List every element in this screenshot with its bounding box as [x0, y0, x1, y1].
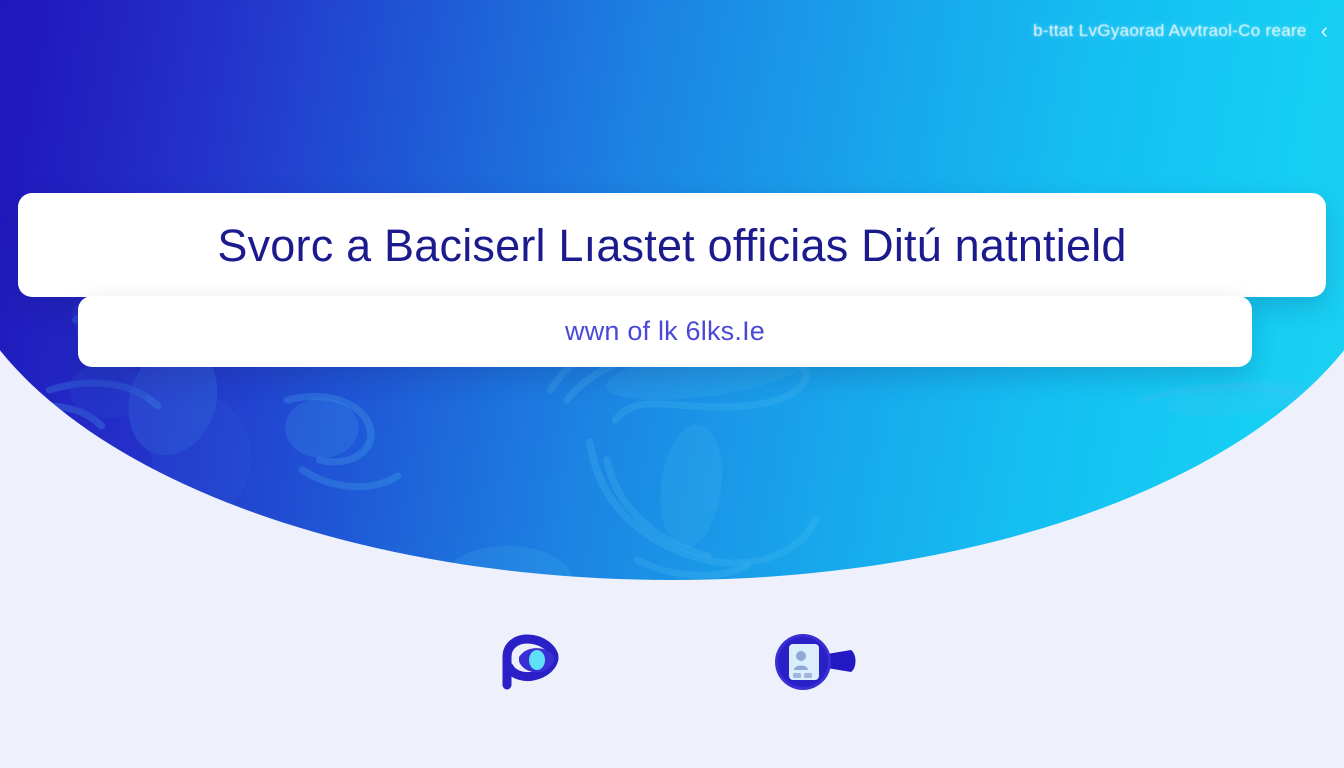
subtitle-card: wwn of lk 6lks.Ie [78, 296, 1252, 367]
feature-icon-row [0, 612, 1344, 712]
page-subtitle: wwn of lk 6lks.Ie [565, 316, 765, 347]
id-badge-icon [771, 630, 859, 694]
topnav-label[interactable]: b-ttat LvGyaorad Avvtraol-Co reare [1033, 21, 1307, 41]
page-title: Svorc a Baciserl Lıastet officias Ditú n… [217, 223, 1126, 268]
headline-card: Svorc a Baciserl Lıastet officias Ditú n… [18, 193, 1326, 297]
eye-icon [493, 631, 565, 693]
page-root: b-ttat LvGyaorad Avvtraol-Co reare ‹ Svo… [0, 0, 1344, 768]
eye-icon-slot[interactable] [481, 619, 577, 705]
chevron-left-icon[interactable]: ‹ [1321, 20, 1328, 42]
id-badge-icon-slot[interactable] [767, 619, 863, 705]
top-navigation[interactable]: b-ttat LvGyaorad Avvtraol-Co reare ‹ [1033, 20, 1328, 42]
